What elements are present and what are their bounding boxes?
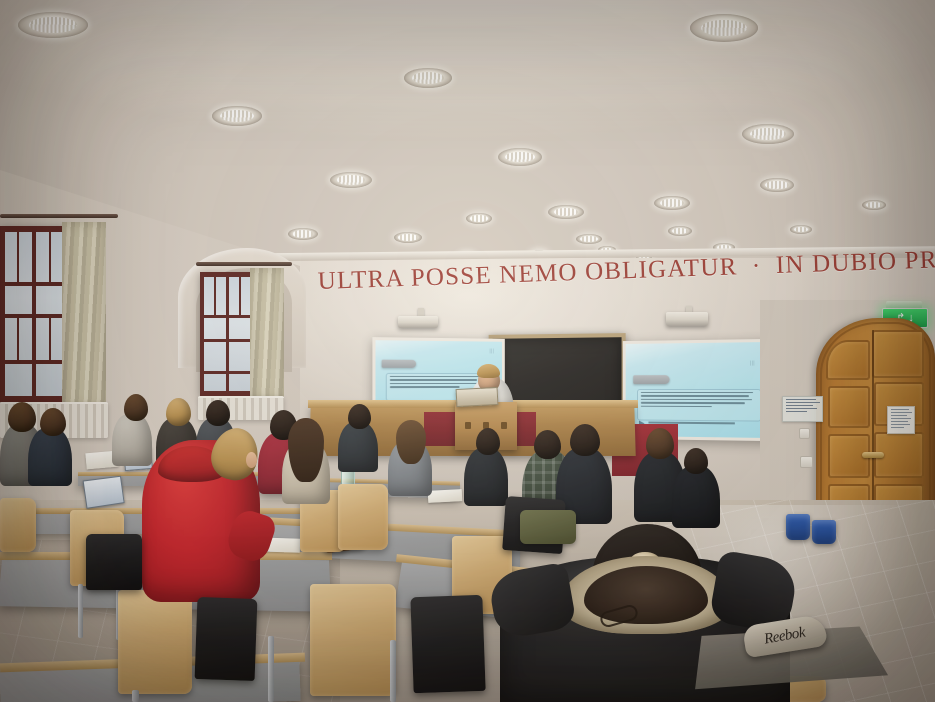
student-far-right-torso: [672, 466, 720, 528]
jacket-on-chair: [195, 597, 258, 681]
olive-bag: [520, 510, 576, 544]
student-right-rear-head: [646, 428, 674, 459]
shoe-brand-label: Reebok: [763, 624, 806, 648]
downlight-icon: [212, 106, 262, 126]
curtain-arch: [250, 268, 284, 400]
downlight-icon: [498, 148, 542, 166]
blue-bucket: [812, 520, 836, 544]
downlight-icon: [654, 196, 690, 210]
student-grey-hair: [396, 420, 426, 464]
light-switch-upper[interactable]: [799, 428, 810, 439]
window-frame-arch: [200, 272, 256, 396]
inscription-part-2: IN DUBIO PRO R: [775, 246, 935, 279]
exit-sign-bracket: [886, 301, 922, 308]
blue-bucket: [786, 514, 810, 540]
posted-notice-sheet: [887, 406, 915, 434]
wall-plaque: [782, 396, 823, 422]
downlight-icon: [668, 226, 692, 236]
projector-left: [398, 316, 438, 328]
downlight-icon: [790, 225, 812, 234]
jacket-on-chair: [86, 534, 142, 590]
chair-leg: [78, 584, 83, 638]
downlight-icon: [330, 172, 372, 188]
downlight-icon: [690, 14, 758, 42]
curtain-rod: [0, 214, 118, 218]
slide-tab-right: [633, 375, 669, 384]
light-switch-lower[interactable]: [800, 456, 813, 468]
student-dark-mid2-head: [476, 428, 500, 455]
chair-leg: [268, 636, 274, 702]
photo-lecture-hall: ULTRA POSSE NEMO OBLIGATUR · IN DUBIO PR…: [0, 0, 935, 702]
door-panel: [828, 386, 870, 428]
lecturer-laptop: [456, 387, 499, 407]
student-plaid-head: [534, 430, 561, 459]
downlight-icon: [404, 68, 452, 88]
student-row1-left-head: [8, 402, 36, 432]
downlight-icon: [576, 234, 602, 244]
red-hoodie-student-ear: [246, 452, 257, 468]
chair[interactable]: [338, 484, 388, 550]
student-row2-mid-head: [166, 398, 191, 426]
downlight-icon: [18, 12, 88, 38]
inscription-separator: ·: [741, 252, 771, 280]
student-row2-right-head: [206, 400, 230, 426]
student-row2-left-head: [124, 394, 148, 421]
slide-logo-left: |||: [489, 349, 494, 355]
student-row1-left2-torso: [28, 428, 72, 486]
lecturer-hair: [477, 364, 500, 378]
downlight-icon: [862, 200, 886, 210]
door-handle[interactable]: [862, 452, 884, 458]
chair[interactable]: [310, 584, 396, 696]
slide-text-box-right: [637, 389, 761, 422]
student-mid-dark-torso: [338, 422, 378, 472]
chair[interactable]: [118, 590, 192, 694]
window-frame-left: [0, 226, 70, 402]
window-glass: [5, 232, 65, 396]
downlight-icon: [466, 213, 492, 224]
chair[interactable]: [0, 498, 36, 552]
student-long-hair-hair: [288, 418, 324, 482]
downlight-icon: [548, 205, 584, 219]
door-panel: [826, 340, 870, 380]
notebook: [428, 489, 463, 503]
window-glass: [204, 277, 252, 391]
door-panel: [872, 330, 924, 378]
chair-leg: [132, 690, 139, 702]
downlight-icon: [288, 228, 318, 240]
jacket-on-chair: [410, 595, 485, 693]
student-dark-jacket-head: [570, 424, 600, 456]
curtain-left: [62, 222, 106, 410]
downlight-icon: [742, 124, 794, 144]
student-far-right-head: [684, 448, 708, 474]
student-dark-mid2-torso: [464, 448, 508, 506]
projector-right: [666, 312, 708, 326]
curtain-rod: [196, 262, 292, 266]
student-row2-left-torso: [112, 414, 152, 466]
slide-tab-left: [382, 360, 416, 368]
downlight-icon: [760, 178, 794, 192]
slide-logo-right: |||: [750, 361, 755, 367]
open-laptop[interactable]: [83, 476, 125, 509]
chair-leg: [390, 640, 396, 702]
student-mid-dark-head: [348, 404, 371, 429]
downlight-icon: [394, 232, 422, 243]
student-row1-left2-head: [40, 408, 66, 436]
